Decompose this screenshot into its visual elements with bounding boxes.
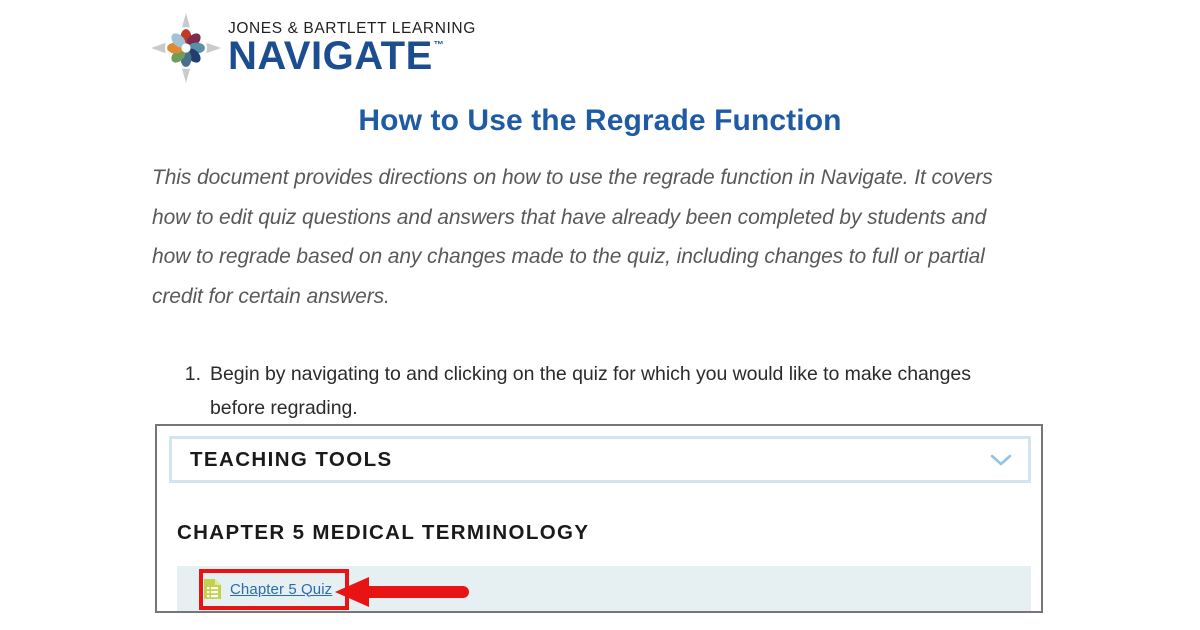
quiz-item[interactable]: Chapter 5 Quiz [203, 578, 332, 600]
trademark-mark: ™ [434, 41, 444, 51]
brand-wordmark-group: JONES & BARTLETT LEARNING NAVIGATE ™ [228, 19, 476, 77]
list-item-text: Begin by navigating to and clicking on t… [210, 357, 1016, 425]
instruction-list: 1. Begin by navigating to and clicking o… [176, 357, 1016, 425]
list-item: 1. Begin by navigating to and clicking o… [176, 357, 1016, 425]
accordion-label: TEACHING TOOLS [190, 448, 988, 472]
quiz-document-icon [203, 578, 222, 600]
quiz-row[interactable]: Chapter 5 Quiz [177, 566, 1031, 612]
brand-logo: JONES & BARTLETT LEARNING NAVIGATE ™ [150, 12, 476, 84]
page-title: How to Use the Regrade Function [0, 104, 1200, 138]
jbl-compass-emblem-icon [150, 12, 222, 84]
quiz-link[interactable]: Chapter 5 Quiz [230, 581, 332, 598]
chapter-heading: CHAPTER 5 MEDICAL TERMINOLOGY [177, 521, 589, 545]
brand-name: NAVIGATE [228, 36, 433, 77]
embedded-screenshot: TEACHING TOOLS CHAPTER 5 MEDICAL TERMINO… [155, 424, 1043, 613]
accordion-teaching-tools[interactable]: TEACHING TOOLS [169, 436, 1031, 483]
chevron-down-icon[interactable] [988, 453, 1014, 467]
intro-paragraph: This document provides directions on how… [152, 158, 1022, 316]
list-item-number: 1. [176, 357, 210, 391]
document-page: JONES & BARTLETT LEARNING NAVIGATE ™ How… [0, 0, 1200, 630]
